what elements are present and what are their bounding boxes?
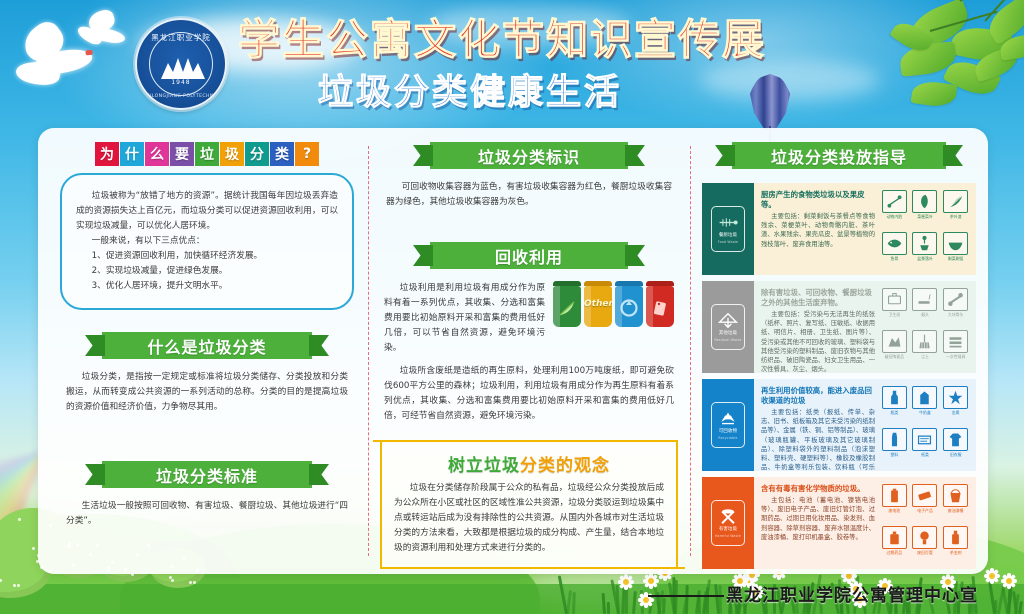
why-title-char-1: 什 [120, 142, 144, 166]
badge-label: 可回收物 [719, 429, 737, 434]
waste-icon-item: 茶叶渣 [941, 190, 970, 230]
section-ribbon-standard: 垃圾分类标准 [102, 461, 312, 488]
badge-label-en: Recyclable [718, 436, 737, 441]
paragraph: 垃圾在分类储存阶段属于公众的私有品，垃圾经公众分类投放后成为公众所在小区或社区的… [394, 481, 664, 556]
panel-text: 主要包括：受污染与无法再生的纸张（纸杯、照片、复写纸、压敏纸、收据用纸、明信片、… [761, 310, 875, 373]
waste-icon-caption: 菜梗菜叶 [917, 214, 933, 219]
panel-heading: 除有害垃圾、可回收物、餐厨垃圾之外的其他生活废弃物。 [761, 288, 875, 308]
waste-icon-item: 剩菜剩饭 [941, 232, 970, 272]
waste-icon-item: 废旧灯管 [911, 526, 940, 566]
insecticide-icon [943, 526, 968, 549]
concept-title-part-green: 树立垃圾 [448, 456, 520, 476]
content-card: 为什么要垃圾分类? 垃圾被称为“放错了地方的资源”。据统计我国每年因垃圾丢弃造成… [38, 128, 988, 574]
why-title-char-5: 圾 [220, 142, 244, 166]
waste-icon-item: 过期药品 [880, 526, 909, 566]
waste-icon-item: 卫生纸 [880, 288, 909, 328]
waste-icon-caption: 废电池 [888, 508, 900, 513]
why-title-char-7: 类 [270, 142, 294, 166]
page-title: 学生公寓文化节知识宣传展 [238, 16, 766, 64]
panel-body-recycle: 再生利用价值较高，能进入废品回收渠道的垃圾主要包括：纸类（报纸、传单、杂志、旧书… [754, 379, 880, 471]
why-title-char-6: 分 [245, 142, 269, 166]
waste-icon-caption: 金属 [952, 410, 960, 415]
badge-label: 有害垃圾 [719, 527, 737, 532]
paragraph: 可回收物收集容器为蓝色，有害垃圾收集容器为红色，餐厨垃圾收集容器为绿色，其他垃圾… [386, 180, 672, 210]
badge-label: 餐厨垃圾 [719, 233, 737, 238]
classification-panel-other[interactable]: 其他垃圾Residual Waste除有害垃圾、可回收物、餐厨垃圾之外的其他生活… [702, 281, 976, 373]
potted-plant-icon [912, 232, 937, 255]
page-subtitle: 垃圾分类健康生活 [318, 72, 622, 114]
waste-icon-caption: 旧衣服 [950, 452, 962, 457]
panel-heading: 再生利用价值较高，能进入废品回收渠道的垃圾 [761, 386, 875, 406]
waste-icon-item: 鱼骨 [880, 232, 909, 272]
waste-icon-item: 瓶类 [880, 386, 909, 426]
cigarette-icon [912, 288, 937, 311]
disposable-tableware-icon [943, 330, 968, 353]
logo-year: 1948 [137, 79, 225, 86]
panel-heading: 含有有毒有害化学物质的垃圾。 [761, 484, 875, 494]
waste-icon-item: 破旧陶瓷品 [880, 330, 909, 370]
waste-icon-item: 尘土 [911, 330, 940, 370]
waste-icon-item: 动物内脏 [880, 190, 909, 230]
panel-heading: 厨房产生的食物类垃圾以及果皮等。 [761, 190, 875, 210]
section-ribbon-recycle: 回收利用 [430, 242, 628, 269]
paragraph: 垃圾所含废纸是造纸的再生原料，处理利用100万吨废纸，即可避免砍伐600平方公里… [384, 364, 674, 424]
why-title-char-0: 为 [95, 142, 119, 166]
panel-badge-harm: 有害垃圾Harmful Waste [702, 477, 754, 569]
concept-box: 树立垃圾分类的观念 垃圾在分类储存阶段属于公众的私有品，垃圾经公众分类投放后成为… [380, 440, 678, 569]
panel-badge-recycle: 可回收物Recyclable [702, 379, 754, 471]
milk-carton-icon [912, 386, 937, 409]
hazard-cross-icon: 有害垃圾Harmful Waste [711, 500, 745, 546]
waste-icon-item: 盆景落叶 [911, 232, 940, 272]
section-ribbon-what-is: 什么是垃圾分类 [102, 332, 312, 359]
waste-icon-item: 烟头 [911, 288, 940, 328]
bowl-icon [943, 232, 968, 255]
school-logo: 黑龙江职业学院 1948 HEILONGJIANG POLYTECHNIC [135, 18, 227, 110]
paragraph: 垃圾利用是利用垃圾有用成分作为原料有着一系列优点，其收集、分选和富集费用要比初始… [384, 281, 545, 356]
paragraph: 一般来说，有以下三点优点： [76, 234, 338, 249]
waste-icon-item: 电子产品 [911, 484, 940, 524]
waste-icon-caption: 瓶类 [890, 410, 898, 415]
panel-icon-grid: 废电池电子产品废油漆桶过期药品废旧灯管杀虫剂 [880, 477, 976, 569]
waste-icon-caption: 茶叶渣 [950, 214, 962, 219]
recycle-text-2: 垃圾所含废纸是造纸的再生原料，处理利用100万吨废纸，即可避免砍伐600平方公里… [384, 364, 674, 424]
waste-icon-caption: 鱼骨 [890, 256, 898, 261]
waste-icon-item: 杀虫剂 [941, 526, 970, 566]
panel-icon-grid: 卫生纸烟头大块骨头破旧陶瓷品尘土一次性餐具 [880, 281, 976, 373]
paragraph: 2、实现垃圾减量，促进绿色发展。 [76, 264, 338, 279]
footer: 黑龙江职业学院公寓管理中心宣 [0, 581, 1024, 606]
what-is-text: 垃圾分类，是指按一定规定或标准将垃圾分类储存、分类投放和分类搬运，从而转变成公共… [66, 370, 348, 415]
why-classify-box: 垃圾被称为“放错了地方的资源”。据统计我国每年因垃圾丢弃造成的资源损失达上百亿元… [60, 173, 354, 310]
concept-title-part-yellow: 分类的观念 [520, 456, 610, 476]
dust-broom-icon [912, 330, 937, 353]
leaf-vegetable-icon [912, 190, 937, 213]
panel-text: 主包括：电池（蓄电池、镍铬电池等）、废旧电子产品、废旧灯管灯泡、过期药品、过期日… [761, 496, 875, 542]
waste-icon-caption: 盆景落叶 [917, 256, 933, 261]
plastic-icon [882, 428, 907, 451]
why-title-char-8: ? [295, 142, 319, 166]
waste-icon-item: 旧衣服 [941, 428, 970, 468]
column-divider [690, 146, 691, 556]
paragraph: 垃圾分类，是指按一定规定或标准将垃圾分类储存、分类投放和分类搬运，从而转变成公共… [66, 370, 348, 415]
bottle-icon [882, 386, 907, 409]
fish-bone-icon: 餐厨垃圾Food Waste [711, 206, 745, 252]
badge-label-en: Harmful Waste [715, 534, 741, 539]
panel-text: 主要包括：纸类（报纸、传单、杂志、旧书、纸板箱及其它未受污染的纸制品等）、金属（… [761, 408, 875, 471]
waste-icon-caption: 烟头 [921, 312, 929, 317]
waste-icon-caption: 动物内脏 [887, 214, 903, 219]
waste-icon-item: 废电池 [880, 484, 909, 524]
column-divider [368, 146, 369, 556]
waste-icon-caption: 牛奶盒 [919, 410, 931, 415]
panel-body-harm: 含有有毒有害化学物质的垃圾。主包括：电池（蓄电池、镍铬电池等）、废旧电子产品、废… [754, 477, 880, 569]
waste-icon-caption: 尘土 [921, 354, 929, 359]
paragraph: 垃圾被称为“放错了地方的资源”。据统计我国每年因垃圾丢弃造成的资源损失达上百亿元… [76, 189, 338, 234]
classification-panel-recycle[interactable]: 可回收物Recyclable再生利用价值较高，能进入废品回收渠道的垃圾主要包括：… [702, 379, 976, 471]
paragraph: 生活垃圾一般按照可回收物、有害垃圾、餐厨垃圾、其他垃圾进行“四分类”。 [66, 499, 348, 529]
electronics-icon [912, 484, 937, 507]
waste-icon-item: 牛奶盒 [911, 386, 940, 426]
why-classify-title: 为什么要垃圾分类? [54, 142, 360, 166]
waste-icon-item: 废油漆桶 [941, 484, 970, 524]
standard-text: 生活垃圾一般按照可回收物、有害垃圾、餐厨垃圾、其他垃圾进行“四分类”。 [66, 499, 348, 529]
waste-icon-item: 菜梗菜叶 [911, 190, 940, 230]
poster-root: 黑龙江职业学院 1948 HEILONGJIANG POLYTECHNIC 学生… [0, 0, 1024, 614]
tissue-icon [882, 288, 907, 311]
expired-medicine-icon [882, 526, 907, 549]
right-column: 垃圾分类投放指导 餐厨垃圾Food Waste厨房产生的食物类垃圾以及果皮等。主… [698, 128, 980, 574]
fish-icon [882, 232, 907, 255]
waste-icon-caption: 杀虫剂 [950, 550, 962, 555]
section-ribbon-mark: 垃圾分类标识 [430, 142, 628, 169]
mark-text: 可回收物收集容器为蓝色，有害垃圾收集容器为红色，餐厨垃圾收集容器为绿色，其他垃圾… [386, 180, 672, 210]
bone-icon [882, 190, 907, 213]
panel-text: 主要包括：剩菜剩饭与茶餐点等食物残余、菜梗菜叶、动物骨骼内脏、茶叶渣、水果残余、… [761, 212, 875, 249]
waste-icon-caption: 塑料 [890, 452, 898, 457]
waste-icon-caption: 废旧灯管 [917, 550, 933, 555]
waste-icon-caption: 过期药品 [887, 550, 903, 555]
old-clothes-icon [943, 428, 968, 451]
trash-bin-2 [615, 281, 643, 327]
concept-text: 垃圾在分类储存阶段属于公众的私有品，垃圾经公众分类投放后成为公众所在小区或社区的… [394, 481, 664, 556]
footer-text: 黑龙江职业学院公寓管理中心宣 [726, 586, 978, 606]
middle-column: 垃圾分类标识 可回收物收集容器为蓝色，有害垃圾收集容器为红色，餐厨垃圾收集容器为… [376, 128, 682, 574]
concept-title: 树立垃圾分类的观念 [394, 451, 664, 476]
residual-triangle-icon: 其他垃圾Residual Waste [711, 304, 745, 350]
panel-icon-grid: 动物内脏菜梗菜叶茶叶渣鱼骨盆景落叶剩菜剩饭 [880, 183, 976, 275]
logo-chinese-name: 黑龙江职业学院 [137, 32, 225, 43]
why-title-char-3: 要 [170, 142, 194, 166]
tea-leaves-icon [943, 190, 968, 213]
waste-icon-caption: 纸类 [921, 452, 929, 457]
metal-icon [943, 386, 968, 409]
panel-badge-other: 其他垃圾Residual Waste [702, 281, 754, 373]
badge-label: 其他垃圾 [719, 331, 737, 336]
panel-body-other: 除有害垃圾、可回收物、餐厨垃圾之外的其他生活废弃物。主要包括：受污染与无法再生的… [754, 281, 880, 373]
footer-rule [648, 595, 724, 597]
waste-icon-caption: 电子产品 [917, 508, 933, 513]
left-column: 为什么要垃圾分类? 垃圾被称为“放错了地方的资源”。据统计我国每年因垃圾丢弃造成… [54, 128, 360, 574]
broken-ceramic-icon [882, 330, 907, 353]
paper-icon [912, 428, 937, 451]
waste-icon-caption: 卫生纸 [888, 312, 900, 317]
why-title-char-4: 垃 [195, 142, 219, 166]
logo-english-name: HEILONGJIANG POLYTECHNIC [137, 94, 225, 99]
classification-panel-kitchen[interactable]: 餐厨垃圾Food Waste厨房产生的食物类垃圾以及果皮等。主要包括：剩菜剩饭与… [702, 183, 976, 275]
badge-label-en: Food Waste [718, 240, 738, 245]
waste-icon-caption: 剩菜剩饭 [948, 256, 964, 261]
badge-label-en: Residual Waste [714, 338, 741, 343]
mountain-wave-mark-icon [159, 54, 207, 80]
poster-header: 黑龙江职业学院 1948 HEILONGJIANG POLYTECHNIC 学生… [0, 0, 1024, 126]
waste-icon-item: 金属 [941, 386, 970, 426]
waste-icon-item: 大块骨头 [941, 288, 970, 328]
waste-icon-caption: 一次性餐具 [946, 354, 965, 359]
waste-icon-item: 纸类 [911, 428, 940, 468]
why-classify-text: 垃圾被称为“放错了地方的资源”。据统计我国每年因垃圾丢弃造成的资源损失达上百亿元… [76, 189, 338, 294]
trash-bin-3 [646, 281, 674, 327]
why-title-char-2: 么 [145, 142, 169, 166]
panel-body-kitchen: 厨房产生的食物类垃圾以及果皮等。主要包括：剩菜剩饭与茶餐点等食物残余、菜梗菜叶、… [754, 183, 880, 275]
classification-panel-list: 餐厨垃圾Food Waste厨房产生的食物类垃圾以及果皮等。主要包括：剩菜剩饭与… [702, 183, 976, 569]
paragraph: 1、促进资源回收利用，加快循环经济发展。 [76, 249, 338, 264]
panel-badge-kitchen: 餐厨垃圾Food Waste [702, 183, 754, 275]
light-bulb-icon [912, 526, 937, 549]
waste-icon-item: 一次性餐具 [941, 330, 970, 370]
section-ribbon-guidance: 垃圾分类投放指导 [732, 142, 946, 169]
battery-icon [882, 484, 907, 507]
paint-bucket-icon [943, 484, 968, 507]
classification-panel-harm[interactable]: 有害垃圾Harmful Waste含有有毒有害化学物质的垃圾。主包括：电池（蓄电… [702, 477, 976, 569]
waste-icon-caption: 大块骨头 [948, 312, 964, 317]
waste-icon-caption: 破旧陶瓷品 [885, 354, 904, 359]
paragraph: 3、优化人居环境，提升文明水平。 [76, 279, 338, 294]
big-bone-icon [943, 288, 968, 311]
trash-bins-illustration: Other [553, 281, 674, 327]
waste-icon-item: 塑料 [880, 428, 909, 468]
trash-bin-0 [553, 281, 581, 327]
panel-icon-grid: 瓶类牛奶盒金属塑料纸类旧衣服 [880, 379, 976, 471]
trash-bin-1: Other [584, 281, 612, 327]
waste-icon-caption: 废油漆桶 [948, 508, 964, 513]
recycle-text-1: 垃圾利用是利用垃圾有用成分作为原料有着一系列优点，其收集、分选和富集费用要比初始… [384, 281, 545, 356]
recycle-arrows-icon: 可回收物Recyclable [711, 402, 745, 448]
